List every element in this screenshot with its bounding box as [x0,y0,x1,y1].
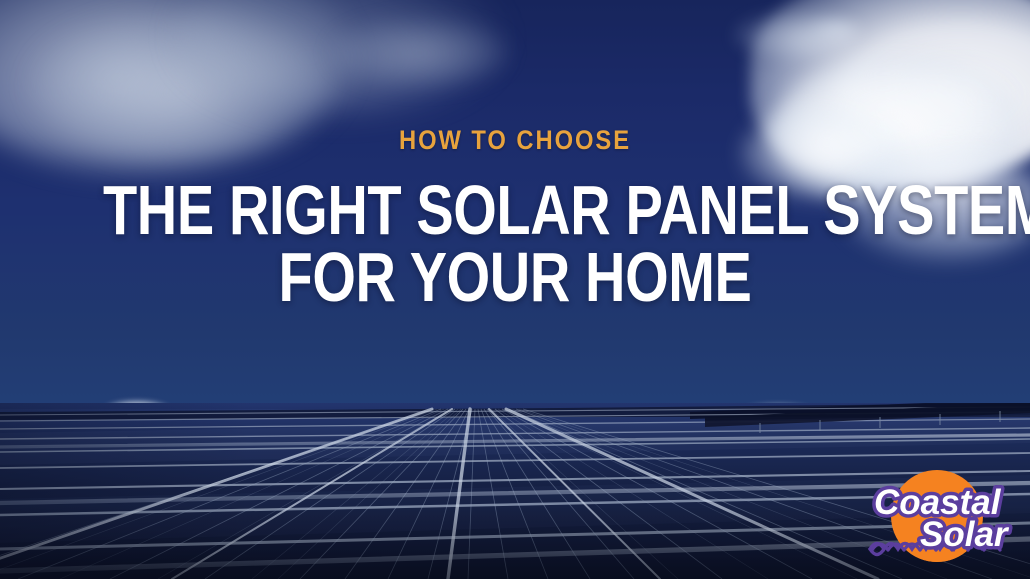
logo-icon: Coastal Solar [862,464,1030,579]
coastal-solar-logo[interactable]: Coastal Solar [862,464,1030,579]
eyebrow-text: HOW TO CHOOSE [62,127,968,154]
hero-banner: HOW TO CHOOSE THE RIGHT SOLAR PANEL SYST… [0,0,1030,579]
page-title: THE RIGHT SOLAR PANEL SYSTEM FOR YOUR HO… [0,178,1030,310]
logo-word-solar: Solar [920,515,1010,554]
headline-line-2: FOR YOUR HOME [103,245,927,309]
cloud-wisp-icon [330,18,510,88]
headline-line-1: THE RIGHT SOLAR PANEL SYSTEM [103,178,927,242]
